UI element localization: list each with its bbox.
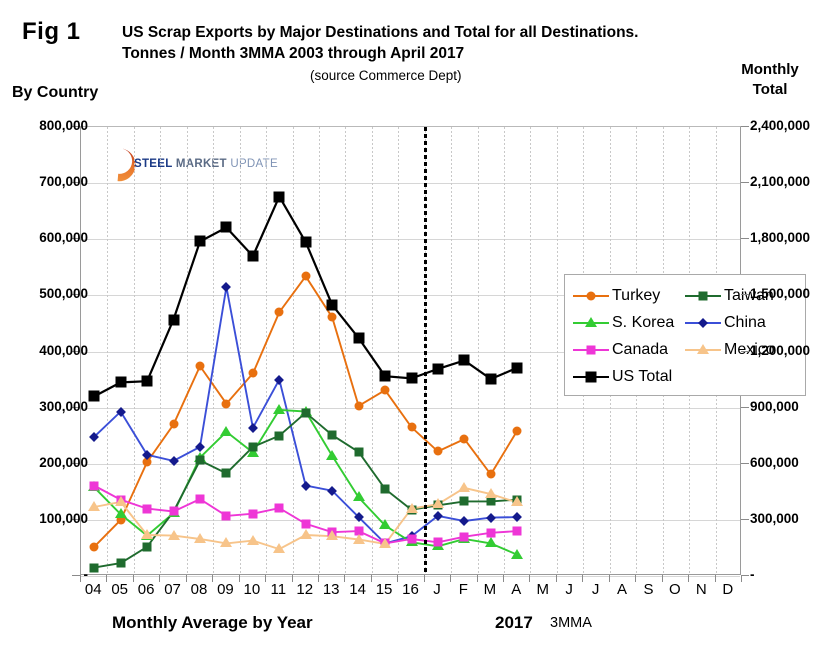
x-axis-tick	[556, 575, 557, 582]
legend-item-china[interactable]: China	[685, 314, 797, 332]
y-axis-label-right: 1,500,000	[750, 287, 834, 301]
y-axis-tick-right	[741, 407, 749, 408]
legend-item-turkey[interactable]: Turkey	[573, 287, 685, 305]
y-axis-label-right: 300,000	[750, 512, 834, 526]
y-axis-label-right: -	[750, 568, 834, 582]
legend-item-us-total[interactable]: US Total	[573, 368, 691, 386]
x-axis-tick	[582, 575, 583, 582]
x-axis-tick	[344, 575, 345, 582]
forecast-divider	[424, 127, 427, 574]
legend-marker-us-total-icon	[573, 370, 609, 384]
left-axis-caption: By Country	[12, 84, 98, 102]
y-axis-tick-right	[741, 519, 749, 520]
y-axis-label-left: 200,000	[16, 456, 88, 470]
x-axis-tick	[450, 575, 451, 582]
chart-title-block: US Scrap Exports by Major Destinations a…	[122, 22, 742, 64]
y-axis-label-left: 600,000	[16, 231, 88, 245]
legend-label-china: China	[724, 314, 766, 332]
x-axis-tick	[212, 575, 213, 582]
y-axis-label-right: 1,800,000	[750, 231, 834, 245]
x-axis-tick	[662, 575, 663, 582]
y-axis-tick-right	[741, 238, 749, 239]
x-axis-tick	[133, 575, 134, 582]
chart-title-line-2: Tonnes / Month 3MMA 2003 through April 2…	[122, 43, 742, 64]
x-axis-tick	[529, 575, 530, 582]
gridline-horizontal	[81, 576, 740, 577]
x-axis-tick	[186, 575, 187, 582]
x-axis-tick	[741, 575, 742, 582]
y-axis-label-right: 900,000	[750, 400, 834, 414]
x-axis-label: D	[708, 582, 748, 597]
right-axis-caption-line-2: Total	[720, 80, 820, 100]
legend-marker-s-korea-icon	[573, 316, 609, 330]
figure-label: Fig 1	[22, 18, 81, 46]
x-axis-tick	[80, 575, 81, 582]
legend-label-turkey: Turkey	[612, 287, 660, 305]
right-axis-caption-line-1: Monthly	[720, 60, 820, 80]
x-axis-title-left: Monthly Average by Year	[112, 613, 313, 633]
y-axis-label-right: 2,400,000	[750, 119, 834, 133]
y-axis-label-right: 1,200,000	[750, 344, 834, 358]
x-axis-3mma-note: 3MMA	[550, 615, 592, 631]
right-axis-caption: Monthly Total	[720, 60, 820, 100]
y-axis-label-left: 500,000	[16, 287, 88, 301]
legend-row: S. Korea China	[573, 309, 797, 336]
legend-item-canada[interactable]: Canada	[573, 341, 685, 359]
x-axis-tick	[715, 575, 716, 582]
legend-label-canada: Canada	[612, 341, 668, 359]
y-axis-label-right: 2,100,000	[750, 175, 834, 189]
y-axis-label-left: -	[16, 568, 88, 582]
x-axis-tick	[265, 575, 266, 582]
y-axis-label-left: 300,000	[16, 400, 88, 414]
x-axis-tick	[106, 575, 107, 582]
legend-marker-taiwan-icon	[685, 289, 721, 303]
y-axis-label-left: 400,000	[16, 344, 88, 358]
legend-item-s-korea[interactable]: S. Korea	[573, 314, 685, 332]
y-axis-tick-right	[741, 294, 749, 295]
chart-source-note: (source Commerce Dept)	[310, 68, 462, 83]
x-axis-tick	[635, 575, 636, 582]
y-axis-label-right: 600,000	[750, 456, 834, 470]
legend-row: US Total	[573, 363, 797, 390]
legend-marker-china-icon	[685, 316, 721, 330]
x-axis-tick	[688, 575, 689, 582]
y-axis-tick-right	[741, 126, 749, 127]
x-axis-tick	[477, 575, 478, 582]
series-line-us-total	[94, 197, 517, 397]
legend-label-us-total: US Total	[612, 368, 672, 386]
x-axis-tick	[292, 575, 293, 582]
x-axis-tick	[609, 575, 610, 582]
y-axis-tick-right	[741, 182, 749, 183]
legend-marker-turkey-icon	[573, 289, 609, 303]
x-axis-tick	[318, 575, 319, 582]
x-axis-tick	[397, 575, 398, 582]
legend-marker-canada-icon	[573, 343, 609, 357]
x-axis-tick	[239, 575, 240, 582]
chart-plot-area: STEEL MARKET UPDATE Turkey Taiwan S. Kor…	[80, 126, 741, 575]
x-axis-year-2017: 2017	[495, 613, 533, 633]
x-axis-tick	[503, 575, 504, 582]
y-axis-label-left: 800,000	[16, 119, 88, 133]
y-axis-tick-right	[741, 575, 749, 576]
legend-label-s-korea: S. Korea	[612, 314, 674, 332]
chart-title-line-1: US Scrap Exports by Major Destinations a…	[122, 22, 742, 43]
x-axis-tick	[424, 575, 425, 582]
x-axis-tick	[371, 575, 372, 582]
y-axis-tick-right	[741, 463, 749, 464]
y-axis-tick-right	[741, 351, 749, 352]
legend-marker-mexico-icon	[685, 343, 721, 357]
y-axis-label-left: 100,000	[16, 512, 88, 526]
y-axis-label-left: 700,000	[16, 175, 88, 189]
x-axis-tick	[159, 575, 160, 582]
